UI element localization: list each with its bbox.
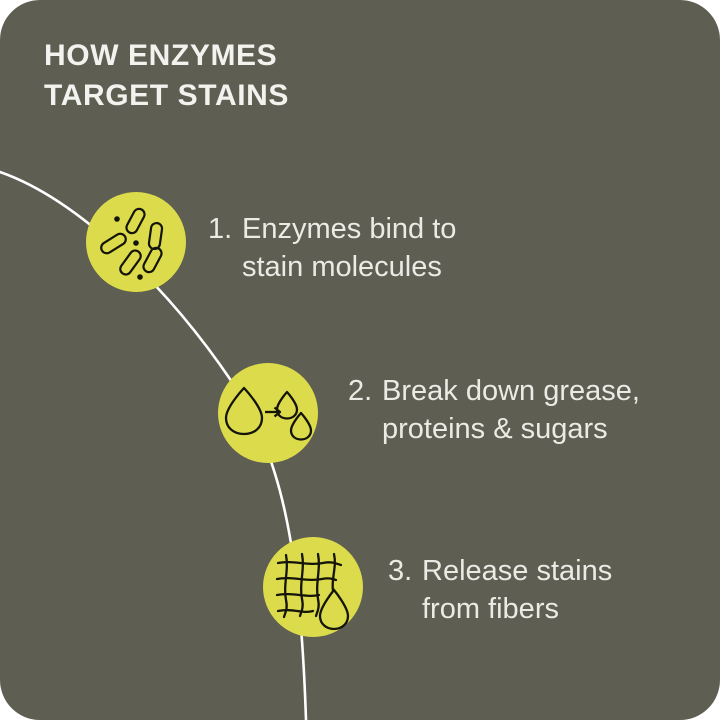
step-2-label: Break down grease, proteins & sugars — [382, 372, 668, 449]
step-2-text: 2. Break down grease, proteins & sugars — [348, 372, 668, 449]
enzyme-rods-icon — [86, 192, 186, 292]
step-1-label: Enzymes bind to stain molecules — [242, 210, 518, 287]
step-2-icon-badge — [218, 363, 318, 463]
step-3-icon-badge — [263, 537, 363, 637]
infographic-card: HOW ENZYMES TARGET STAINS — [0, 0, 720, 720]
step-3-text: 3. Release stains from fibers — [388, 552, 668, 629]
step-1-icon-badge — [86, 192, 186, 292]
step-3-number: 3. — [388, 552, 422, 590]
step-3-label: Release stains from fibers — [422, 552, 668, 629]
fabric-weave-droplet-icon — [263, 537, 363, 637]
droplet-split-arrow-icon — [218, 363, 318, 463]
page-title: HOW ENZYMES TARGET STAINS — [44, 36, 289, 116]
step-1-number: 1. — [208, 210, 242, 248]
step-2-number: 2. — [348, 372, 382, 410]
step-1-text: 1. Enzymes bind to stain molecules — [208, 210, 518, 287]
infographic-canvas: HOW ENZYMES TARGET STAINS — [0, 0, 720, 720]
